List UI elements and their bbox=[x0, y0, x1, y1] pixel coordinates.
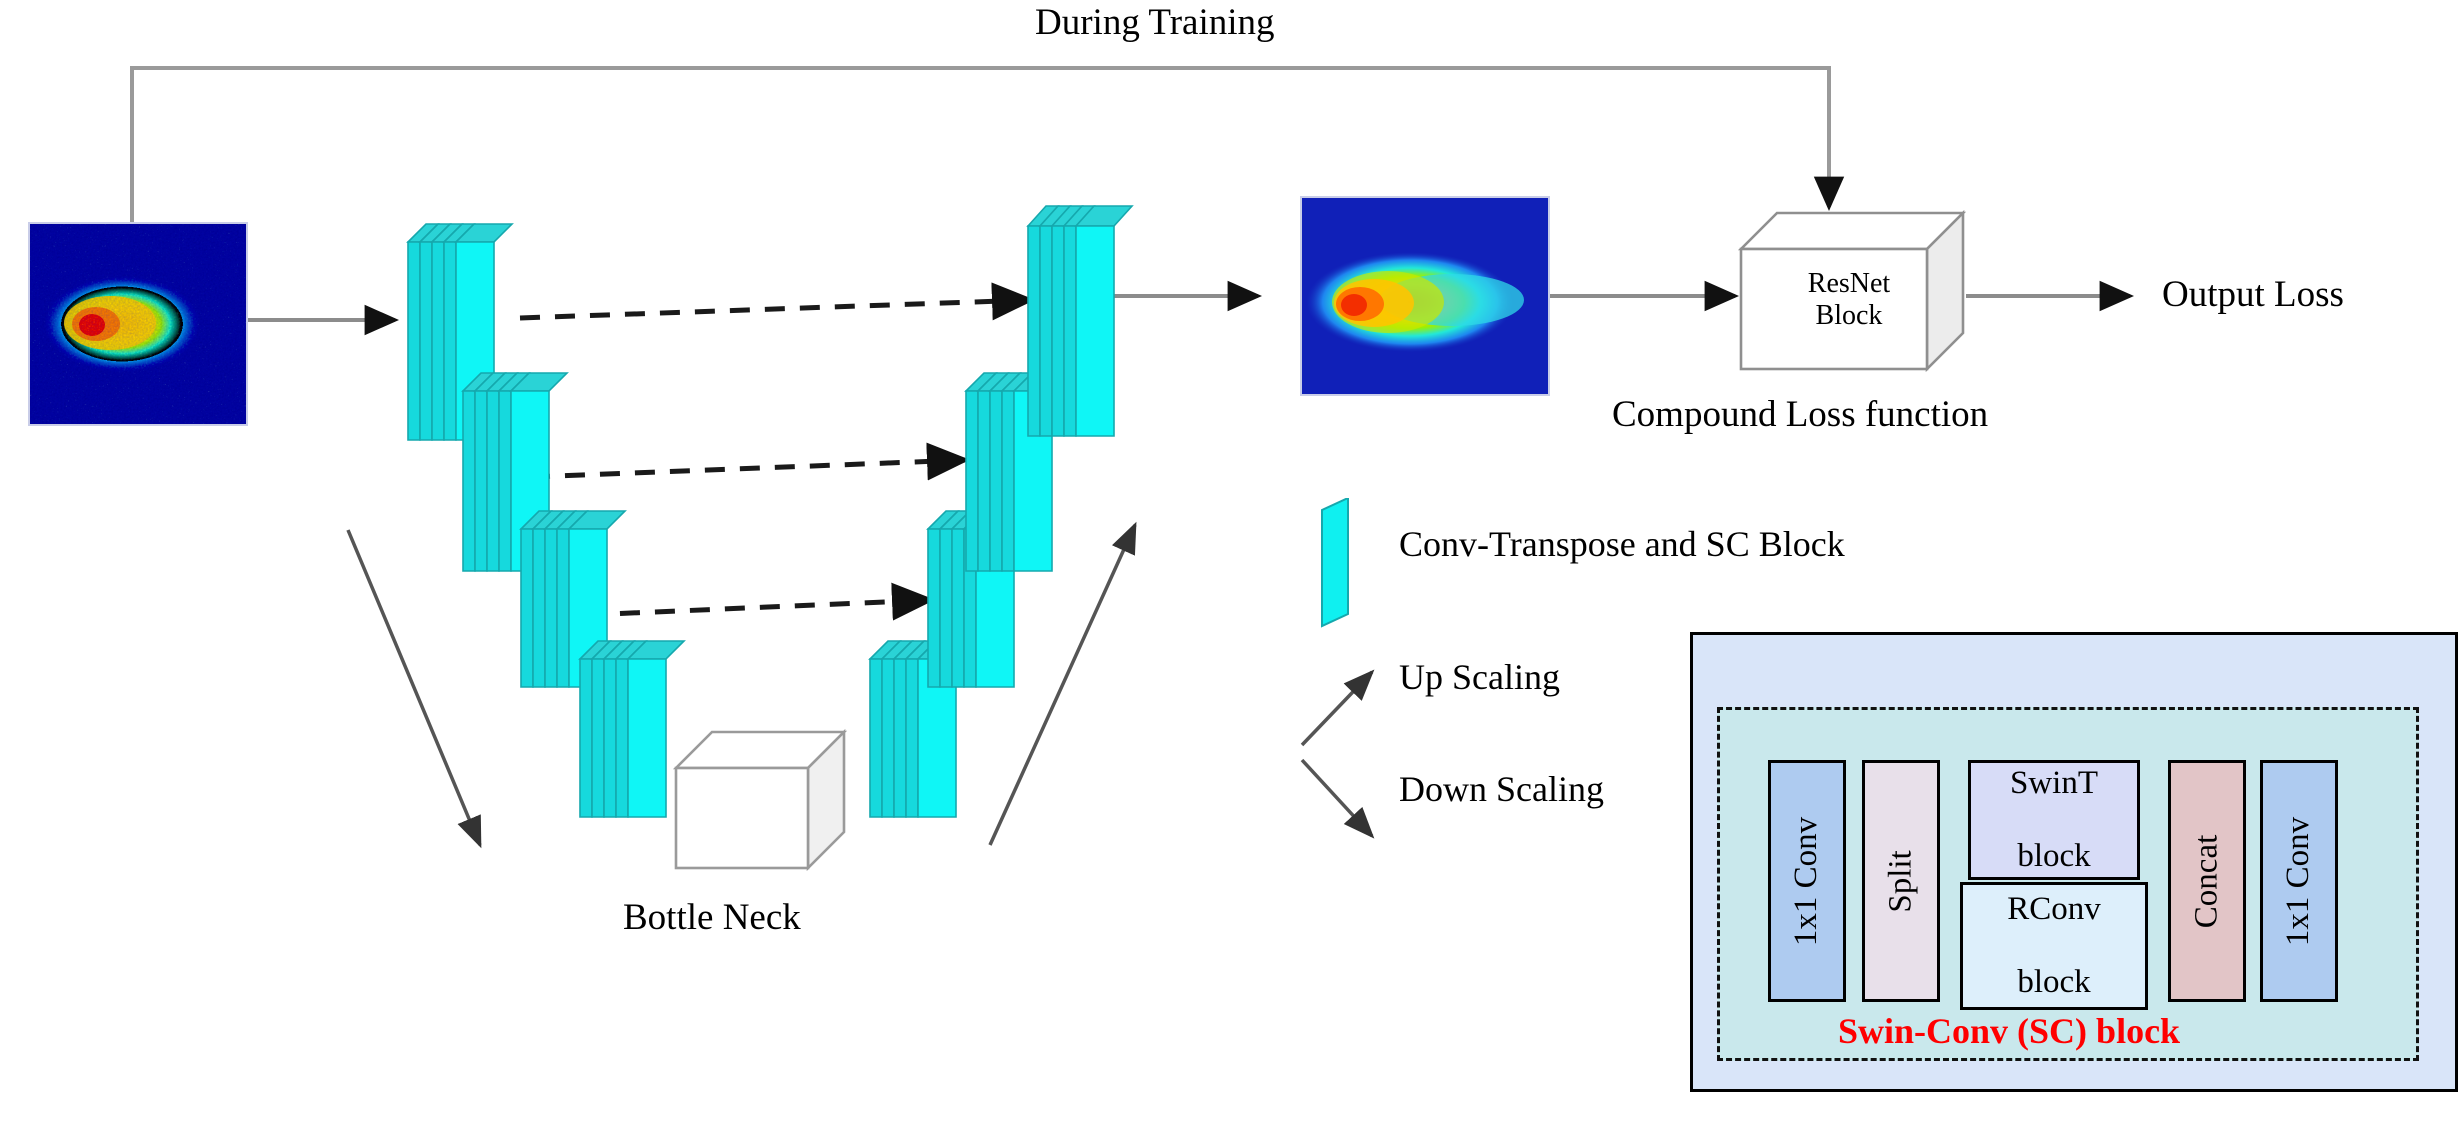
output-loss-label: Output Loss bbox=[2162, 274, 2344, 317]
resnet-block-label: ResNet Block bbox=[1759, 268, 1939, 332]
bottle-neck-box bbox=[670, 720, 850, 880]
sc-block-conv1x1-in: 1x1 Conv bbox=[1768, 760, 1846, 1002]
sc-block-conv1x1-in-label: 1x1 Conv bbox=[1789, 816, 1826, 945]
sc-block-rconv-label: RConv block bbox=[2007, 891, 2101, 1002]
sc-detail-caption: Swin-Conv (SC) block bbox=[1838, 1010, 2180, 1052]
resnet-block-label-line2: Block bbox=[1759, 300, 1939, 332]
sc-block-split-label: Split bbox=[1883, 850, 1920, 912]
sc-block-conv1x1-out: 1x1 Conv bbox=[2260, 760, 2338, 1002]
connector-skip-3 bbox=[585, 600, 930, 615]
legend-swatch-conv-transpose bbox=[1318, 498, 1368, 630]
connector-skip-1 bbox=[520, 300, 1030, 318]
connector-skip-2 bbox=[530, 460, 965, 477]
legend-arrow-down-scaling bbox=[1302, 760, 1372, 836]
sc-block-rconv-line1: RConv bbox=[2007, 891, 2101, 928]
legend-label-down-scaling: Down Scaling bbox=[1399, 769, 1604, 810]
sc-detail-inner-dashed-region: 1x1 Conv Split SwinT block RConv block C… bbox=[1717, 707, 2419, 1061]
sc-block-swint-line2: block bbox=[2010, 838, 2098, 875]
decoder-stack-1 bbox=[1020, 186, 1140, 451]
sc-block-swint-line1: SwinT bbox=[2010, 765, 2098, 802]
page-title: During Training bbox=[1035, 2, 1275, 45]
legend-label-conv-transpose: Conv-Transpose and SC Block bbox=[1399, 524, 1845, 565]
conv-slab-group bbox=[1020, 186, 1140, 451]
resnet-block-label-line1: ResNet bbox=[1759, 268, 1939, 300]
output-heatmap-render bbox=[1302, 198, 1548, 394]
sc-detail-panel: 1x1 Conv Split SwinT block RConv block C… bbox=[1690, 632, 2458, 1092]
sc-block-swint-label: SwinT block bbox=[2010, 765, 2098, 876]
sc-block-rconv-line2: block bbox=[2007, 964, 2101, 1001]
bottle-neck-shape bbox=[670, 720, 850, 880]
legend-arrow-up-scaling bbox=[1302, 672, 1372, 745]
sc-block-split: Split bbox=[1862, 760, 1940, 1002]
compound-loss-label: Compound Loss function bbox=[1612, 394, 1988, 437]
input-heatmap-render bbox=[30, 224, 246, 424]
connector-feedback-during-training bbox=[132, 68, 1829, 222]
bottle-neck-label: Bottle Neck bbox=[623, 897, 801, 940]
sc-block-conv1x1-out-label: 1x1 Conv bbox=[2281, 816, 2318, 945]
sc-block-rconv: RConv block bbox=[1960, 882, 2148, 1010]
sc-block-concat: Concat bbox=[2168, 760, 2246, 1002]
cyan-parallelogram-icon bbox=[1318, 498, 1368, 630]
input-image bbox=[28, 222, 248, 426]
sc-block-swint: SwinT block bbox=[1968, 760, 2140, 880]
sc-block-concat-label: Concat bbox=[2189, 834, 2226, 927]
diagram-canvas: ResNet Block During Training Output Loss… bbox=[0, 0, 2458, 1142]
legend-label-up-scaling: Up Scaling bbox=[1399, 657, 1560, 698]
output-image bbox=[1300, 196, 1550, 396]
